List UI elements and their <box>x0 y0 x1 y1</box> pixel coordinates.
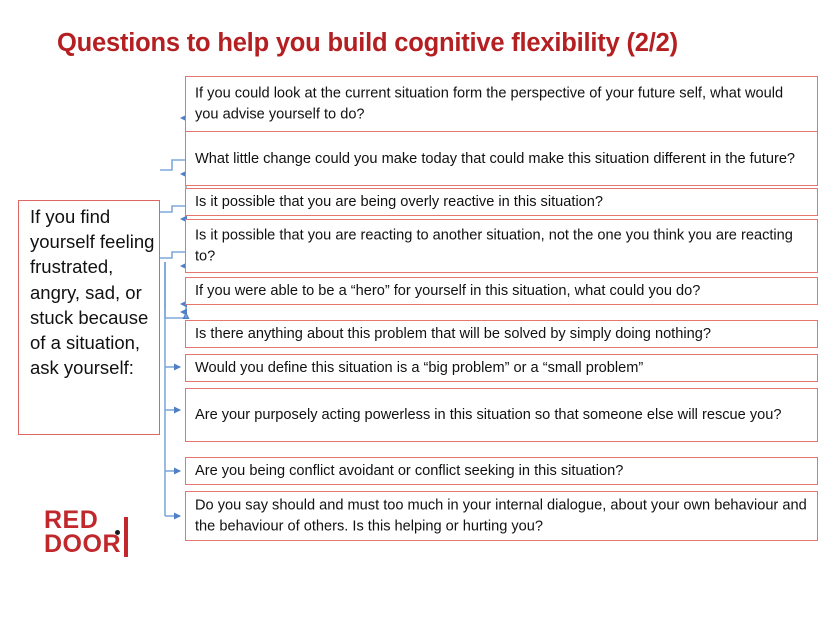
prompt-text: If you find yourself feeling frustrated,… <box>30 204 158 380</box>
question-box-3[interactable]: Is it possible that you are being overly… <box>185 188 818 216</box>
question-text: Are your purposely acting powerless in t… <box>195 405 809 426</box>
question-text: Is it possible that you are being overly… <box>195 192 809 213</box>
question-box-6[interactable]: Is there anything about this problem tha… <box>185 320 818 348</box>
question-text: Is it possible that you are reacting to … <box>195 226 809 267</box>
slide-canvas: Questions to help you build cognitive fl… <box>0 0 838 619</box>
question-box-10[interactable]: Do you say should and must too much in y… <box>185 491 818 541</box>
question-text: Are you being conflict avoidant or confl… <box>195 461 809 482</box>
question-box-1[interactable]: If you could look at the current situati… <box>185 76 818 132</box>
question-text: If you could look at the current situati… <box>195 84 809 125</box>
question-box-5[interactable]: If you were able to be a “hero” for your… <box>185 277 818 305</box>
question-box-4[interactable]: Is it possible that you are reacting to … <box>185 219 818 273</box>
question-box-8[interactable]: Are your purposely acting powerless in t… <box>185 388 818 442</box>
question-text: Do you say should and must too much in y… <box>195 496 809 537</box>
prompt-box: If you find yourself feeling frustrated,… <box>18 200 160 435</box>
question-text: If you were able to be a “hero” for your… <box>195 281 809 302</box>
page-title: Questions to help you build cognitive fl… <box>57 29 797 58</box>
logo-door-bar-icon <box>124 517 128 557</box>
question-text: What little change could you make today … <box>195 148 809 169</box>
logo-dot-icon <box>115 530 120 535</box>
question-text: Is there anything about this problem tha… <box>195 324 809 345</box>
red-door-logo: RED DOOR <box>44 505 164 557</box>
logo-line-2: DOOR <box>44 532 121 557</box>
question-box-2[interactable]: What little change could you make today … <box>185 131 818 186</box>
question-box-7[interactable]: Would you define this situation is a “bi… <box>185 354 818 382</box>
question-box-9[interactable]: Are you being conflict avoidant or confl… <box>185 457 818 485</box>
question-text: Would you define this situation is a “bi… <box>195 358 809 379</box>
